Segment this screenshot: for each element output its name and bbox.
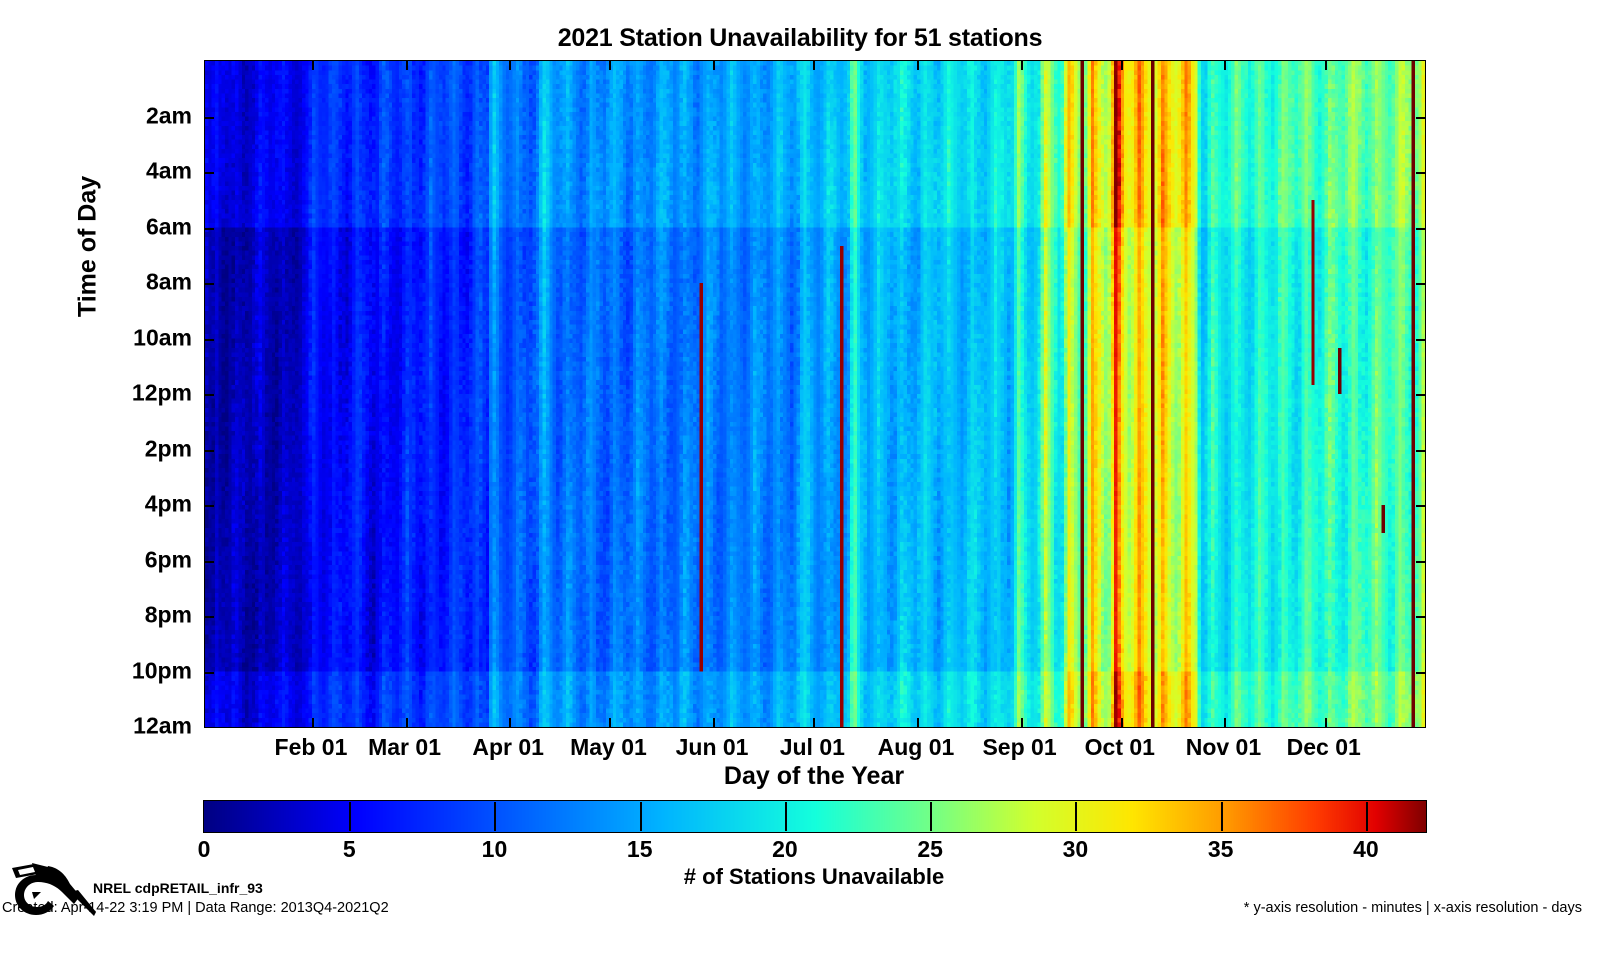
colorbar-tick-mark <box>930 802 932 831</box>
y-tick-mark <box>1416 616 1425 618</box>
heatmap-plot[interactable] <box>204 60 1426 728</box>
x-tick-mark <box>813 718 815 727</box>
x-tick-mark <box>1121 718 1123 727</box>
x-tick-mark <box>1021 718 1023 727</box>
y-tick-mark <box>205 561 214 563</box>
y-tick-mark <box>1416 505 1425 507</box>
y-axis-tick-label: 10pm <box>82 657 192 684</box>
y-tick-mark <box>1416 450 1425 452</box>
colorbar-tick-label: 20 <box>725 836 845 863</box>
page-title: 2021 Station Unavailability for 51 stati… <box>0 24 1600 53</box>
y-tick-mark <box>205 339 214 341</box>
colorbar-tick-label: 30 <box>1015 836 1135 863</box>
x-tick-mark <box>509 61 511 70</box>
y-axis-tick-label: 2pm <box>82 435 192 462</box>
x-tick-mark <box>609 61 611 70</box>
x-tick-mark <box>917 61 919 70</box>
x-axis-title: Day of the Year <box>204 762 1424 791</box>
y-axis-tick-label: 6pm <box>82 546 192 573</box>
y-tick-mark <box>205 117 214 119</box>
colorbar-tick-mark <box>494 802 496 831</box>
y-tick-mark <box>1416 561 1425 563</box>
x-tick-mark <box>1021 61 1023 70</box>
y-tick-mark <box>1416 339 1425 341</box>
x-tick-mark <box>1325 61 1327 70</box>
colorbar-tick-label: 10 <box>434 836 554 863</box>
y-tick-mark <box>205 505 214 507</box>
x-tick-mark <box>406 61 408 70</box>
x-tick-mark <box>1121 61 1123 70</box>
y-tick-mark <box>205 394 214 396</box>
y-tick-mark <box>1416 228 1425 230</box>
x-tick-mark <box>406 718 408 727</box>
colorbar[interactable] <box>203 800 1427 833</box>
y-tick-mark <box>1416 283 1425 285</box>
colorbar-tick-label: 0 <box>144 836 264 863</box>
colorbar-tick-mark <box>1221 802 1223 831</box>
x-axis-tick-label: Dec 01 <box>1244 734 1404 761</box>
y-axis-tick-label: 8pm <box>82 602 192 629</box>
y-tick-mark <box>205 172 214 174</box>
y-tick-mark <box>1416 172 1425 174</box>
y-tick-mark <box>205 450 214 452</box>
x-tick-mark <box>813 61 815 70</box>
y-tick-mark <box>205 283 214 285</box>
y-tick-mark <box>1416 394 1425 396</box>
x-tick-mark <box>312 718 314 727</box>
x-tick-mark <box>312 61 314 70</box>
colorbar-tick-label: 35 <box>1161 836 1281 863</box>
y-tick-mark <box>1416 117 1425 119</box>
resolution-note: * y-axis resolution - minutes | x-axis r… <box>1244 900 1582 916</box>
colorbar-gradient <box>204 801 1426 832</box>
x-tick-mark <box>713 718 715 727</box>
y-axis-tick-label: 12am <box>82 713 192 740</box>
colorbar-tick-mark <box>1366 802 1368 831</box>
colorbar-tick-mark <box>1075 802 1077 831</box>
x-tick-mark <box>609 718 611 727</box>
colorbar-tick-label: 25 <box>870 836 990 863</box>
colorbar-tick-label: 5 <box>289 836 409 863</box>
colorbar-tick-mark <box>640 802 642 831</box>
heatmap-canvas[interactable] <box>205 61 1425 727</box>
x-tick-mark <box>1325 718 1327 727</box>
x-tick-mark <box>713 61 715 70</box>
colorbar-tick-label: 15 <box>580 836 700 863</box>
colorbar-tick-mark <box>349 802 351 831</box>
colorbar-tick-label: 40 <box>1306 836 1426 863</box>
y-tick-mark <box>205 672 214 674</box>
colorbar-tick-mark <box>785 802 787 831</box>
colorbar-title: # of Stations Unavailable <box>204 864 1424 890</box>
x-tick-mark <box>1224 61 1226 70</box>
y-tick-mark <box>205 616 214 618</box>
y-tick-mark <box>205 228 214 230</box>
y-axis-title: Time of Day <box>74 87 103 407</box>
y-axis-tick-label: 4pm <box>82 491 192 518</box>
created-timestamp: Created: Apr-14-22 3:19 PM | Data Range:… <box>2 900 389 916</box>
x-tick-mark <box>917 718 919 727</box>
nrel-dataset-id: NREL cdpRETAIL_infr_93 <box>93 880 263 896</box>
x-tick-mark <box>1224 718 1226 727</box>
y-tick-mark <box>1416 672 1425 674</box>
x-tick-mark <box>509 718 511 727</box>
